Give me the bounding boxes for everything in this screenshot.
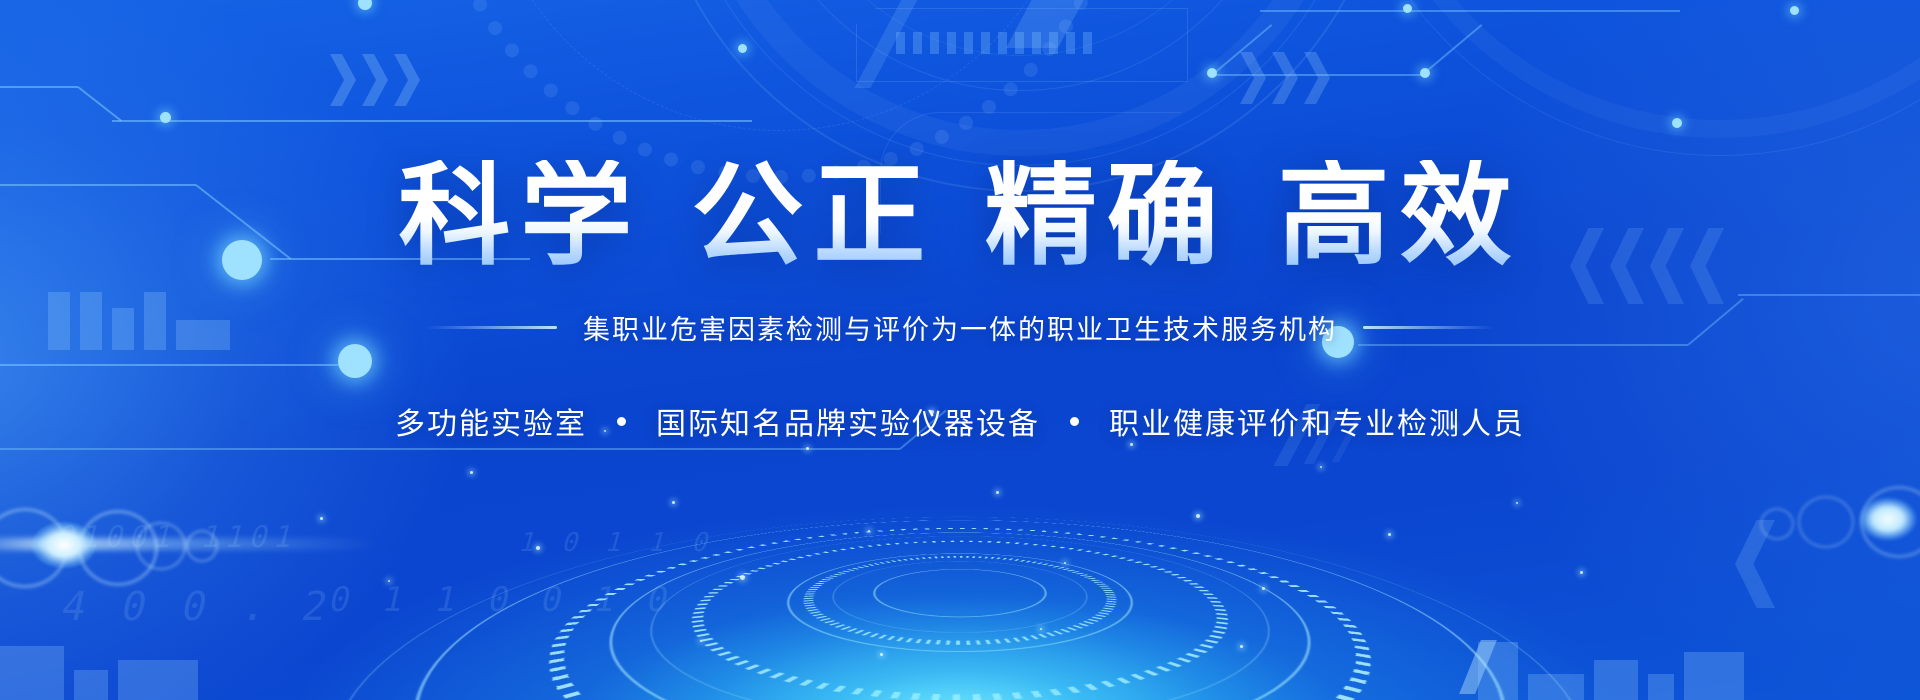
divider-line-right: [1363, 326, 1495, 329]
page-title: 科学 公正 精确 高效: [394, 160, 1525, 272]
feature-item-2: 国际知名品牌实验仪器设备: [656, 399, 1040, 443]
subtitle-row: 集职业危害因素检测与评价为一体的职业卫生技术服务机构: [425, 308, 1495, 347]
headline-word-2: 公正: [687, 153, 939, 278]
feature-item-1: 多功能实验室: [395, 399, 587, 443]
headline-word-4: 高效: [1274, 153, 1526, 278]
divider-line-left: [425, 326, 557, 329]
headline-word-1: 科学: [394, 153, 646, 278]
banner-subtitle: 集职业危害因素检测与评价为一体的职业卫生技术服务机构: [583, 308, 1337, 347]
feature-item-3: 职业健康评价和专业检测人员: [1109, 399, 1525, 443]
bullet-separator-icon: [617, 417, 626, 426]
hero-banner: 01001 1101 4 0 0 . 2 0 1 1 0 0 1 0 1 0 1…: [0, 0, 1920, 700]
feature-list: 多功能实验室 国际知名品牌实验仪器设备 职业健康评价和专业检测人员: [395, 399, 1525, 443]
headline-word-3: 精确: [981, 153, 1233, 278]
banner-content: 科学 公正 精确 高效 集职业危害因素检测与评价为一体的职业卫生技术服务机构 多…: [0, 0, 1920, 700]
bullet-separator-icon: [1070, 417, 1079, 426]
